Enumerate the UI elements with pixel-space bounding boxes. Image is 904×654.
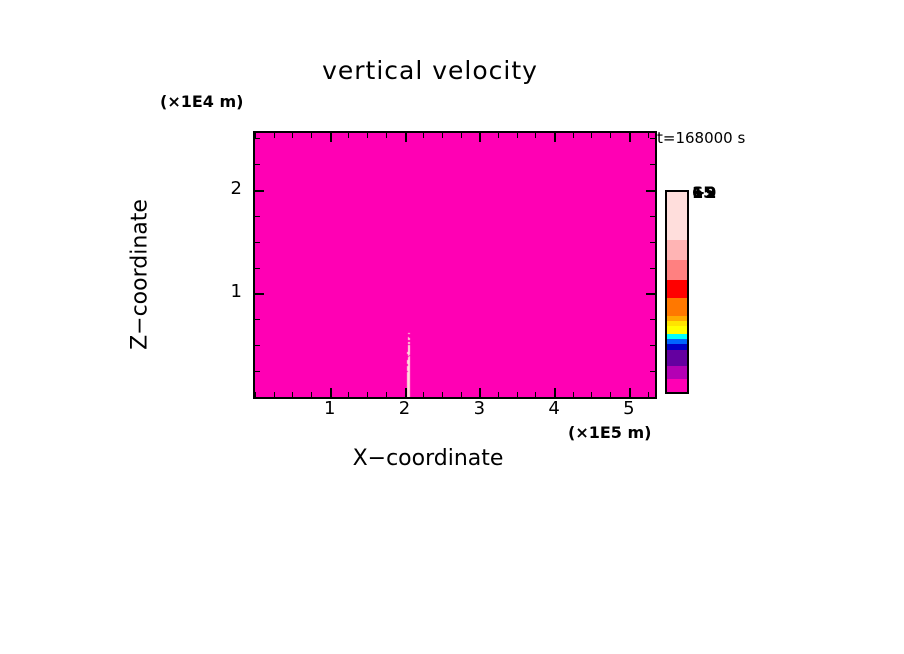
tick-mark bbox=[330, 133, 332, 142]
y-axis-units-label: (×1E4 m) bbox=[160, 92, 243, 111]
tick-mark bbox=[461, 133, 462, 138]
colorbar-band bbox=[667, 326, 687, 334]
tick-mark bbox=[479, 388, 481, 397]
tick-mark bbox=[479, 133, 481, 142]
y-axis-title: Z−coordinate bbox=[128, 125, 153, 425]
tick-mark bbox=[330, 388, 332, 397]
tick-mark bbox=[367, 133, 368, 138]
colorbar-band bbox=[667, 280, 687, 298]
tick-mark bbox=[311, 392, 312, 397]
tick-mark bbox=[650, 242, 655, 243]
tick-mark bbox=[461, 392, 462, 397]
tick-mark bbox=[348, 392, 349, 397]
tick-mark bbox=[650, 216, 655, 217]
tick-mark bbox=[292, 392, 293, 397]
tick-mark bbox=[423, 133, 424, 138]
tick-mark bbox=[255, 242, 260, 243]
plot-title-text: vertical velocity bbox=[322, 56, 538, 85]
tick-mark bbox=[255, 138, 260, 139]
tick-mark bbox=[610, 133, 611, 138]
tick-mark bbox=[650, 319, 655, 320]
tick-mark bbox=[554, 388, 556, 397]
tick-mark bbox=[646, 293, 655, 295]
tick-mark bbox=[405, 388, 407, 397]
tick-mark bbox=[255, 164, 260, 165]
x-axis-units-label: (×1E5 m) bbox=[568, 423, 651, 442]
tick-mark bbox=[648, 133, 649, 138]
tick-mark bbox=[573, 133, 574, 138]
tick-mark bbox=[629, 388, 631, 397]
page-title: vertical velocity bbox=[0, 56, 904, 85]
colorbar-band bbox=[667, 260, 687, 280]
tick-mark bbox=[610, 392, 611, 397]
tick-mark bbox=[386, 133, 387, 138]
tick-mark bbox=[255, 190, 264, 192]
tick-mark bbox=[650, 397, 655, 398]
tick-mark bbox=[648, 392, 649, 397]
tick-mark bbox=[255, 293, 264, 295]
xtick-label: 3 bbox=[459, 398, 499, 419]
colorbar-band bbox=[667, 366, 687, 379]
tick-mark bbox=[554, 133, 556, 142]
tick-mark bbox=[442, 133, 443, 138]
ytick-label: 1 bbox=[212, 281, 242, 302]
tick-mark bbox=[367, 392, 368, 397]
tick-mark bbox=[292, 133, 293, 138]
ytick-label: 2 bbox=[212, 178, 242, 199]
tick-mark bbox=[423, 392, 424, 397]
tick-mark bbox=[650, 371, 655, 372]
tick-mark bbox=[274, 392, 275, 397]
x-axis-title-text: X−coordinate bbox=[353, 446, 504, 471]
tick-mark bbox=[591, 133, 592, 138]
x-axis-title: X−coordinate bbox=[0, 446, 904, 471]
tick-mark bbox=[498, 392, 499, 397]
colorbar-band bbox=[667, 298, 687, 316]
tick-mark bbox=[255, 319, 260, 320]
tick-mark bbox=[535, 392, 536, 397]
tick-mark bbox=[442, 392, 443, 397]
colorbar-band bbox=[667, 350, 687, 366]
tick-mark bbox=[646, 190, 655, 192]
tick-mark bbox=[591, 392, 592, 397]
timestamp-label: t=168000 s bbox=[657, 129, 745, 147]
tick-mark bbox=[517, 133, 518, 138]
tick-mark bbox=[255, 268, 260, 269]
tick-mark bbox=[405, 133, 407, 142]
tick-mark bbox=[535, 133, 536, 138]
tick-mark bbox=[255, 397, 260, 398]
tick-mark bbox=[386, 392, 387, 397]
xtick-label: 1 bbox=[310, 398, 350, 419]
colorbar-tick-label: −9 bbox=[692, 183, 717, 202]
tick-mark bbox=[650, 164, 655, 165]
tick-mark bbox=[650, 268, 655, 269]
xtick-label: 4 bbox=[534, 398, 574, 419]
figure-canvas: vertical velocity (×1E4 m) t=168000 s 1 … bbox=[0, 0, 904, 654]
tick-mark bbox=[573, 392, 574, 397]
tick-mark bbox=[274, 133, 275, 138]
xtick-label: 2 bbox=[385, 398, 425, 419]
tick-mark bbox=[629, 133, 631, 142]
tick-mark bbox=[255, 216, 260, 217]
tick-mark bbox=[255, 371, 260, 372]
colorbar-band bbox=[667, 379, 687, 392]
tick-mark bbox=[517, 392, 518, 397]
colorbar bbox=[665, 190, 689, 394]
tick-mark bbox=[311, 133, 312, 138]
velocity-field-heatmap bbox=[255, 133, 655, 397]
tick-mark bbox=[650, 345, 655, 346]
contour-plot-area bbox=[253, 131, 657, 399]
xtick-label: 5 bbox=[609, 398, 649, 419]
colorbar-band bbox=[667, 240, 687, 260]
tick-mark bbox=[498, 133, 499, 138]
tick-mark bbox=[650, 138, 655, 139]
tick-mark bbox=[348, 133, 349, 138]
colorbar-band bbox=[667, 192, 687, 240]
tick-mark bbox=[255, 345, 260, 346]
